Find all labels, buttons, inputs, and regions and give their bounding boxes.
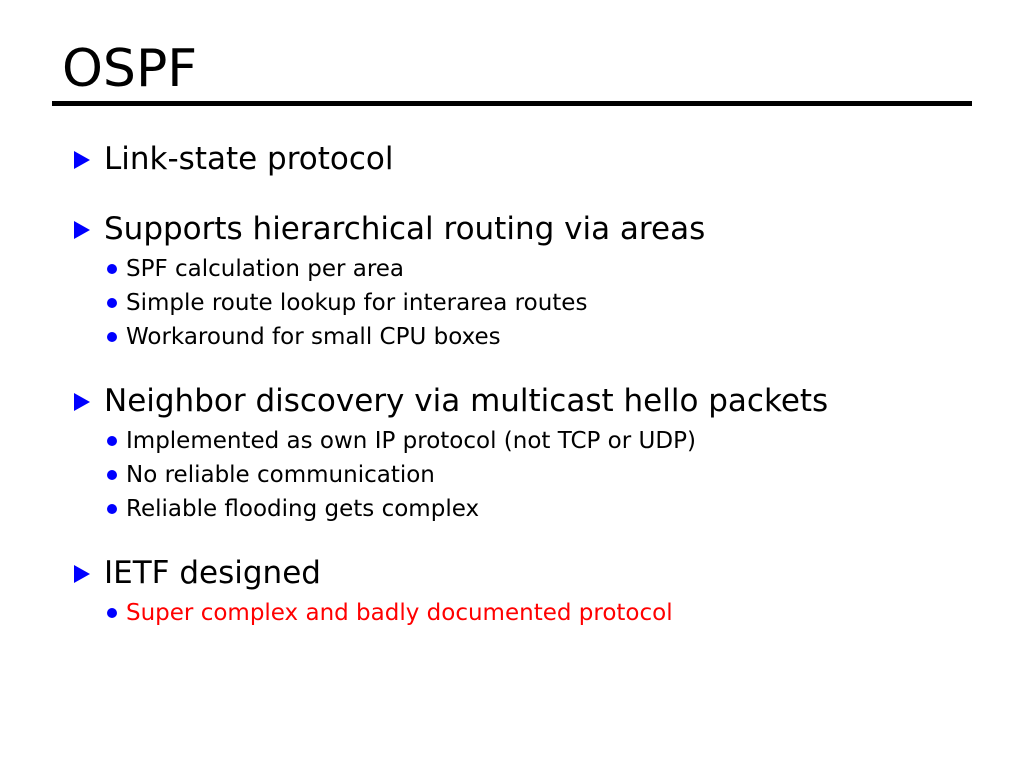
- bullet-text: IETF designed: [104, 553, 321, 593]
- slide-body: Link-state protocol Supports hierarchica…: [0, 139, 1024, 631]
- page-title: OSPF: [62, 40, 972, 98]
- slide-header: OSPF: [52, 40, 972, 106]
- sub-bullet-text-highlight: Super complex and badly documented proto…: [126, 597, 673, 629]
- triangle-bullet-icon: [74, 393, 90, 411]
- slide-canvas: OSPF Link-state protocol Supports hierar…: [0, 0, 1024, 768]
- bullet-text: Link-state protocol: [104, 139, 394, 179]
- dot-bullet-icon: [107, 298, 117, 308]
- sub-bullet-text: SPF calculation per area: [126, 253, 404, 285]
- dot-bullet-icon: [107, 436, 117, 446]
- sub-bullet-item: Simple route lookup for interarea routes: [0, 287, 1024, 321]
- bullet-text: Neighbor discovery via multicast hello p…: [104, 381, 828, 421]
- bullet-item: IETF designed: [0, 553, 1024, 597]
- sub-bullet-text: Simple route lookup for interarea routes: [126, 287, 587, 319]
- dot-bullet-icon: [107, 504, 117, 514]
- sub-bullet-text: No reliable communication: [126, 459, 435, 491]
- sub-bullet-text: Workaround for small CPU boxes: [126, 321, 501, 353]
- sub-bullet-item: No reliable communication: [0, 459, 1024, 493]
- sub-bullet-item: SPF calculation per area: [0, 253, 1024, 287]
- triangle-bullet-icon: [74, 151, 90, 169]
- sub-bullet-text: Reliable flooding gets complex: [126, 493, 479, 525]
- triangle-bullet-icon: [74, 221, 90, 239]
- bullet-item: Link-state protocol: [0, 139, 1024, 183]
- bullet-group: IETF designed Super complex and badly do…: [0, 553, 1024, 631]
- bullet-group: Supports hierarchical routing via areas …: [0, 209, 1024, 355]
- sub-bullet-item: Workaround for small CPU boxes: [0, 321, 1024, 355]
- sub-bullet-text: Implemented as own IP protocol (not TCP …: [126, 425, 696, 457]
- sub-bullet-list: Super complex and badly documented proto…: [0, 597, 1024, 631]
- dot-bullet-icon: [107, 264, 117, 274]
- bullet-group: Link-state protocol: [0, 139, 1024, 183]
- sub-bullet-list: Implemented as own IP protocol (not TCP …: [0, 425, 1024, 527]
- sub-bullet-item: Reliable flooding gets complex: [0, 493, 1024, 527]
- bullet-text: Supports hierarchical routing via areas: [104, 209, 705, 249]
- title-divider: [52, 101, 972, 106]
- bullet-item: Neighbor discovery via multicast hello p…: [0, 381, 1024, 425]
- sub-bullet-list: SPF calculation per area Simple route lo…: [0, 253, 1024, 355]
- triangle-bullet-icon: [74, 565, 90, 583]
- dot-bullet-icon: [107, 332, 117, 342]
- sub-bullet-item: Super complex and badly documented proto…: [0, 597, 1024, 631]
- dot-bullet-icon: [107, 608, 117, 618]
- sub-bullet-item: Implemented as own IP protocol (not TCP …: [0, 425, 1024, 459]
- bullet-group: Neighbor discovery via multicast hello p…: [0, 381, 1024, 527]
- dot-bullet-icon: [107, 470, 117, 480]
- bullet-item: Supports hierarchical routing via areas: [0, 209, 1024, 253]
